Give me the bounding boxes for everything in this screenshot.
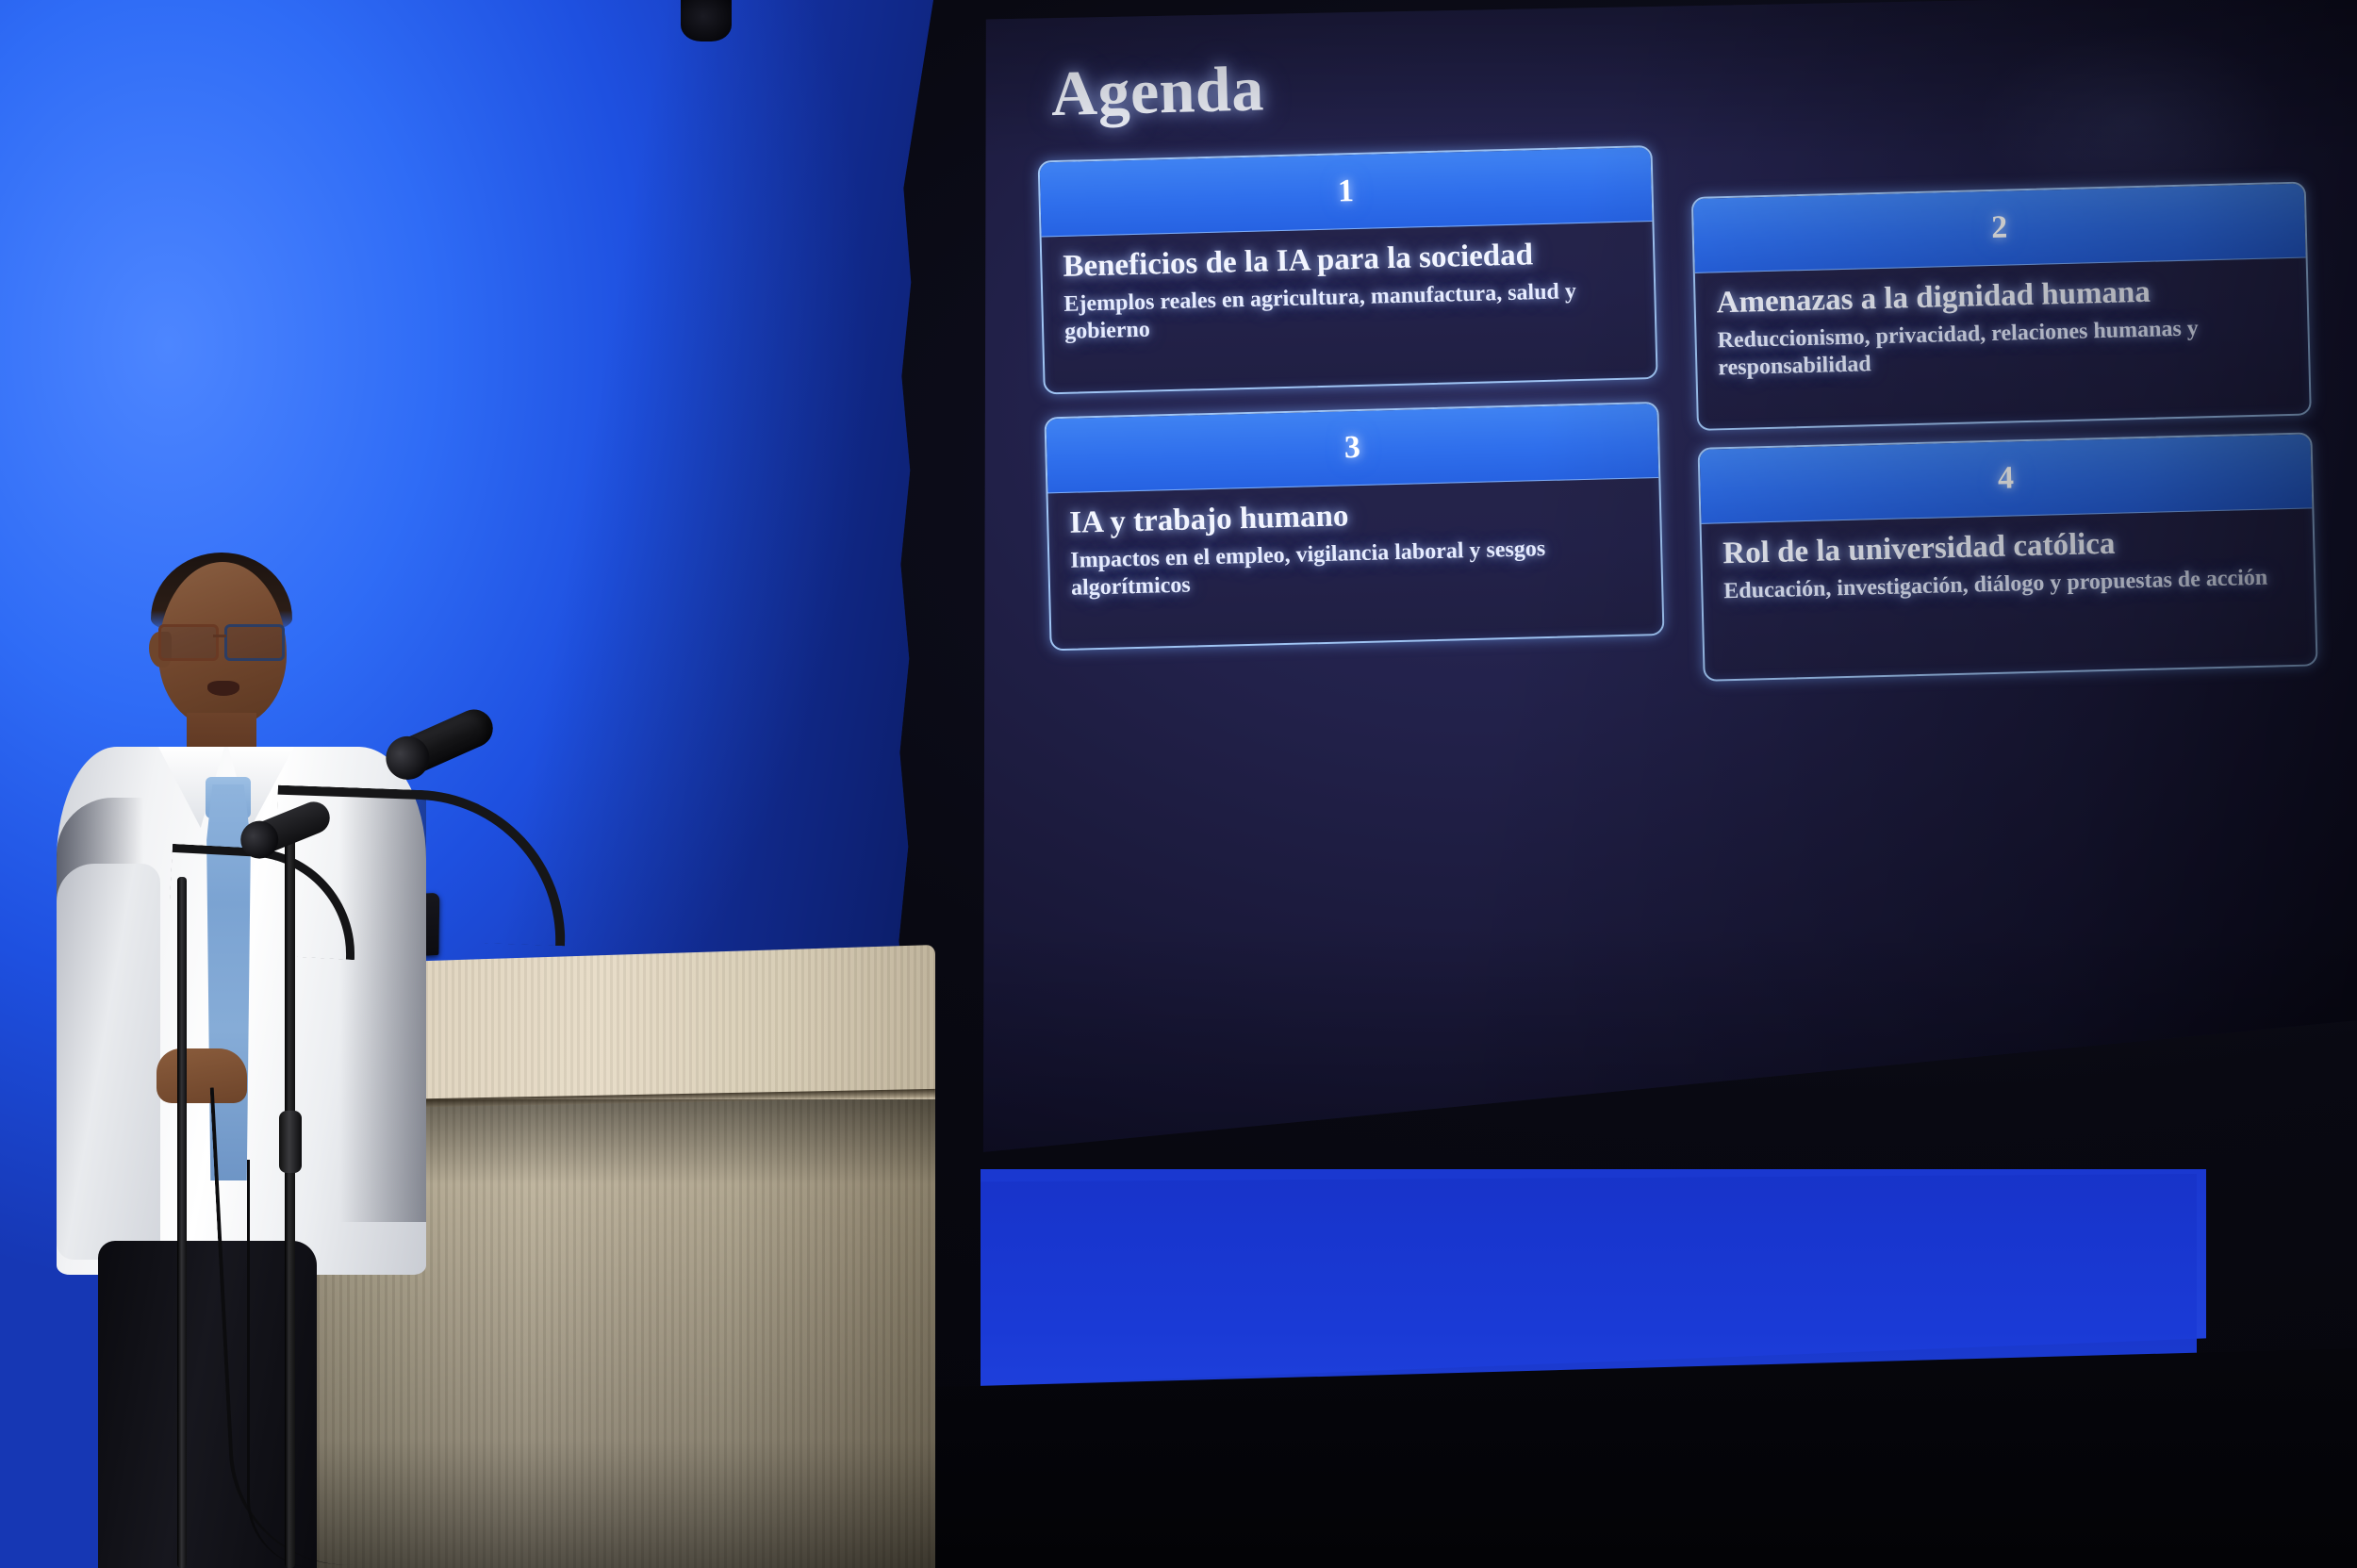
slide-title: Agenda [1050,51,1265,131]
agenda-card-4: 4 Rol de la universidad católica Educaci… [1698,432,2318,681]
agenda-card-3-title: IA y trabajo humano [1069,491,1641,540]
presentation-slide: Agenda 1 Beneficios de la IA para la soc… [981,0,2357,1188]
agenda-card-3-subtitle: Impactos en el empleo, vigilancia labora… [1070,533,1642,602]
eyeglasses-right-lens [224,624,285,661]
agenda-card-4-subtitle: Educación, investigación, diálogo y prop… [1723,564,2296,606]
agenda-card-3-body: IA y trabajo humano Impactos en el emple… [1048,478,1662,613]
agenda-card-2-title: Amenazas a la dignidad humana [1716,272,2288,321]
agenda-card-4-title: Rol de la universidad católica [1722,522,2295,571]
microphone-stand-primary [285,822,295,1568]
auditorium-scene: Agenda 1 Beneficios de la IA para la soc… [0,0,2357,1568]
agenda-card-2-body: Amenazas a la dignidad humana Reduccioni… [1695,258,2309,393]
agenda-card-1-subtitle: Ejemplos reales en agricultura, manufact… [1063,276,1636,346]
presenter-mouth [207,681,239,696]
microphone-cable-secondary [247,1160,316,1568]
agenda-card-3: 3 IA y trabajo humano Impactos en el emp… [1044,402,1664,651]
agenda-card-4-body: Rol de la universidad católica Educación… [1702,508,2315,616]
projection-screen: Agenda 1 Beneficios de la IA para la soc… [981,0,2357,1188]
microphone-stand-clutch [279,1111,302,1173]
eyeglasses-left-lens [158,624,219,661]
agenda-card-1-number: 1 [1338,173,1355,209]
microphone-stand-secondary [177,877,187,1568]
agenda-card-grid: 1 Beneficios de la IA para la sociedad E… [1038,129,2314,670]
eyeglasses-icon [157,624,290,656]
agenda-card-2: 2 Amenazas a la dignidad humana Reduccio… [1691,181,2312,430]
presenter-left-arm [57,864,160,1260]
agenda-card-4-number: 4 [1997,460,2014,496]
agenda-card-1: 1 Beneficios de la IA para la sociedad E… [1038,145,1658,394]
agenda-card-2-subtitle: Reduccionismo, privacidad, relaciones hu… [1717,313,2289,383]
eyeglasses-bridge [213,635,226,637]
agenda-card-1-body: Beneficios de la IA para la sociedad Eje… [1042,222,1656,356]
agenda-card-3-number: 3 [1343,430,1360,466]
ceiling-rigging-fixture [681,0,732,41]
agenda-card-2-number: 2 [1991,210,2008,246]
agenda-card-1-title: Beneficios de la IA para la sociedad [1063,236,1635,285]
